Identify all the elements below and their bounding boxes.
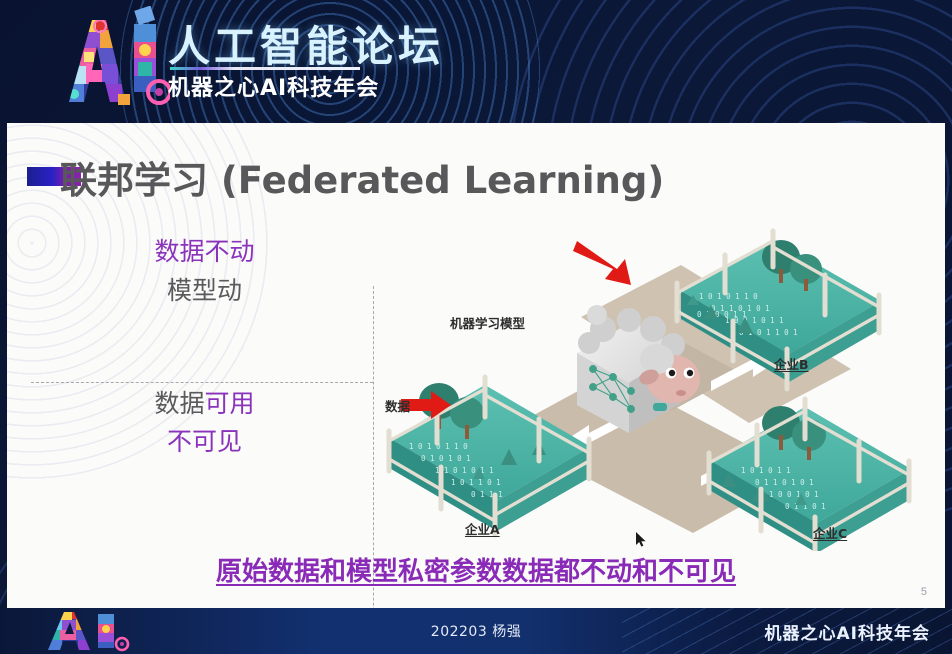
left-line-3: 数据可用 — [27, 385, 382, 424]
presentation-screen: 人工智能论坛 机器之心AI科技年会 联邦学习 (Federated Learni… — [0, 0, 952, 654]
diagram-label-enterprise-c: 企业C — [813, 523, 847, 542]
slide-page-number: 5 — [921, 586, 927, 598]
svg-text:0 1 0 0 1 1: 0 1 0 0 1 1 — [697, 310, 747, 319]
left-line-1: 数据不动 — [27, 233, 382, 272]
footer-right-logo-text: 机器之心AI科技年会 — [765, 619, 930, 644]
left-line-4: 不可见 — [27, 423, 382, 462]
diagram-label-data: 数据 — [385, 396, 410, 415]
svg-text:0 1 0 1 0 1: 0 1 0 1 0 1 — [421, 454, 471, 463]
slide-canvas: 联邦学习 (Federated Learning) 数据不动 模型动 数据可用 … — [7, 123, 945, 608]
federated-learning-diagram: 1 0 1 0 1 1 00 1 1 0 1 0 1 1 0 0 1 0 1 1… — [381, 221, 941, 551]
event-header: 人工智能论坛 机器之心AI科技年会 — [0, 0, 952, 123]
left-text-column: 数据不动 模型动 数据可用 不可见 — [27, 233, 382, 462]
event-title: 人工智能论坛 — [168, 13, 444, 74]
diagram-label-enterprise-b: 企业B — [774, 354, 809, 373]
red-arrow-model — [573, 241, 631, 285]
horizontal-dashed-divider — [31, 382, 373, 383]
svg-text:1 0 1 0 1 1 0: 1 0 1 0 1 1 0 — [699, 292, 758, 301]
svg-text:1 0 0 1 0 1: 1 0 0 1 0 1 — [769, 490, 819, 499]
slide-title: 联邦学习 (Federated Learning) — [60, 150, 664, 204]
left-line-3-b: 可用 — [205, 389, 255, 418]
svg-text:1 0 1 0 1 1: 1 0 1 0 1 1 — [741, 466, 791, 475]
slide-banner-text: 原始数据和模型私密参数数据都不动和不可见 — [7, 551, 945, 588]
ai-mosaic-logo-icon — [22, 6, 170, 110]
diagram-label-enterprise-a: 企业A — [465, 519, 500, 538]
left-line-3-a: 数据 — [154, 389, 204, 418]
svg-text:0 1 1 1: 0 1 1 1 — [471, 490, 503, 499]
svg-text:1 1 0 1 0 1 1: 1 1 0 1 0 1 1 — [435, 466, 494, 475]
svg-text:1 0 1 1 0 1: 1 0 1 1 0 1 — [451, 478, 501, 487]
footer-bar: 202203 杨强 机器之心AI科技年会 — [0, 608, 952, 654]
mouse-cursor-icon — [636, 532, 647, 547]
event-subtitle: 机器之心AI科技年会 — [168, 70, 379, 102]
field-enterprise-c: 1 0 1 0 1 10 1 1 0 1 0 1 1 0 0 1 0 10 1 … — [709, 399, 911, 551]
diagram-label-model: 机器学习模型 — [450, 313, 525, 332]
svg-text:0 1 1 0 1 0 1: 0 1 1 0 1 0 1 — [755, 478, 814, 487]
left-line-2: 模型动 — [27, 272, 382, 311]
